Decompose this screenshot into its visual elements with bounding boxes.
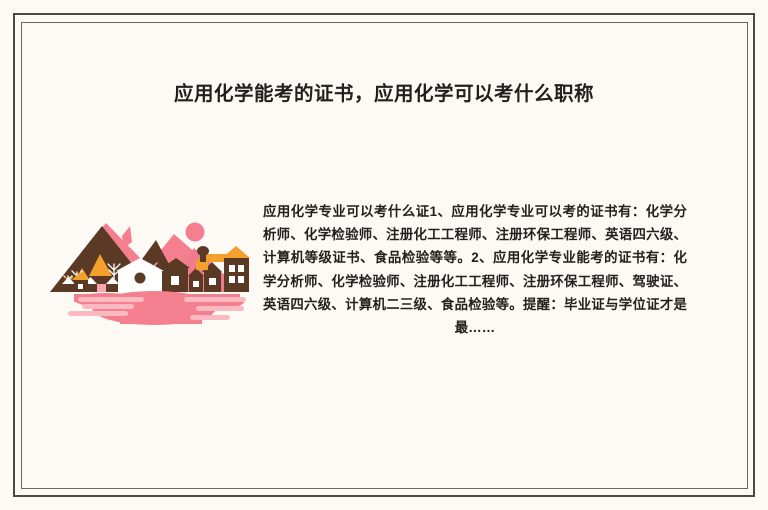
page-root: 应用化学能考的证书，应用化学可以考什么职称 bbox=[0, 0, 768, 510]
village-row-left bbox=[64, 284, 117, 292]
sun-icon bbox=[186, 223, 205, 242]
article-body: 应用化学专业可以考什么证1、应用化学专业可以考的证书有：化学分析师、化学检验师、… bbox=[263, 200, 687, 339]
mountain-village-illustration bbox=[44, 196, 256, 331]
mountain-pink-notch bbox=[122, 226, 132, 248]
page-title: 应用化学能考的证书，应用化学可以考什么职称 bbox=[0, 80, 768, 108]
house-tower-right bbox=[222, 246, 250, 292]
content-area: 应用化学专业可以考什么证1、应用化学专业可以考的证书有：化学分析师、化学检验师、… bbox=[0, 186, 768, 416]
